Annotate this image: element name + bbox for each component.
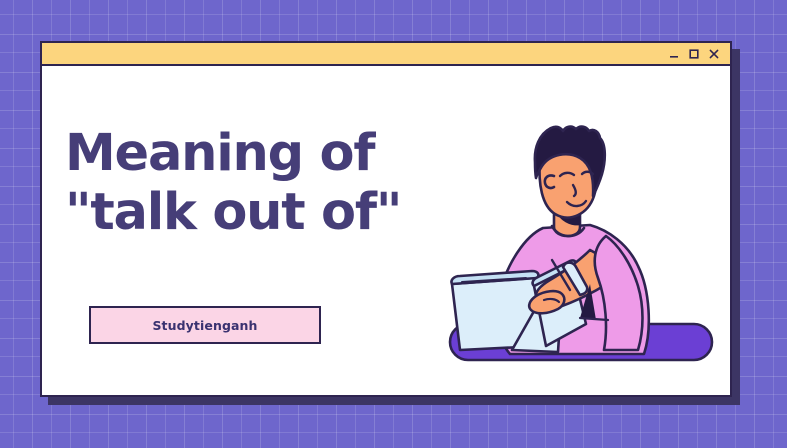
slide-content-area: Meaning of "talk out of" Studytienganh: [42, 66, 730, 395]
window-titlebar[interactable]: [42, 43, 730, 66]
title-line-1: Meaning of: [65, 124, 435, 183]
source-badge[interactable]: Studytienganh: [89, 306, 321, 344]
title-line-2: "talk out of": [65, 183, 435, 242]
source-badge-label: Studytienganh: [152, 318, 257, 333]
person-writing-on-tablet-illustration: [394, 114, 724, 378]
close-icon[interactable]: [705, 46, 722, 62]
maximize-icon[interactable]: [685, 46, 702, 62]
presentation-window: Meaning of "talk out of" Studytienganh: [40, 41, 732, 397]
slide-canvas: Meaning of "talk out of" Studytienganh: [0, 0, 787, 448]
minimize-icon[interactable]: [665, 46, 682, 62]
page-title: Meaning of "talk out of": [65, 124, 435, 242]
